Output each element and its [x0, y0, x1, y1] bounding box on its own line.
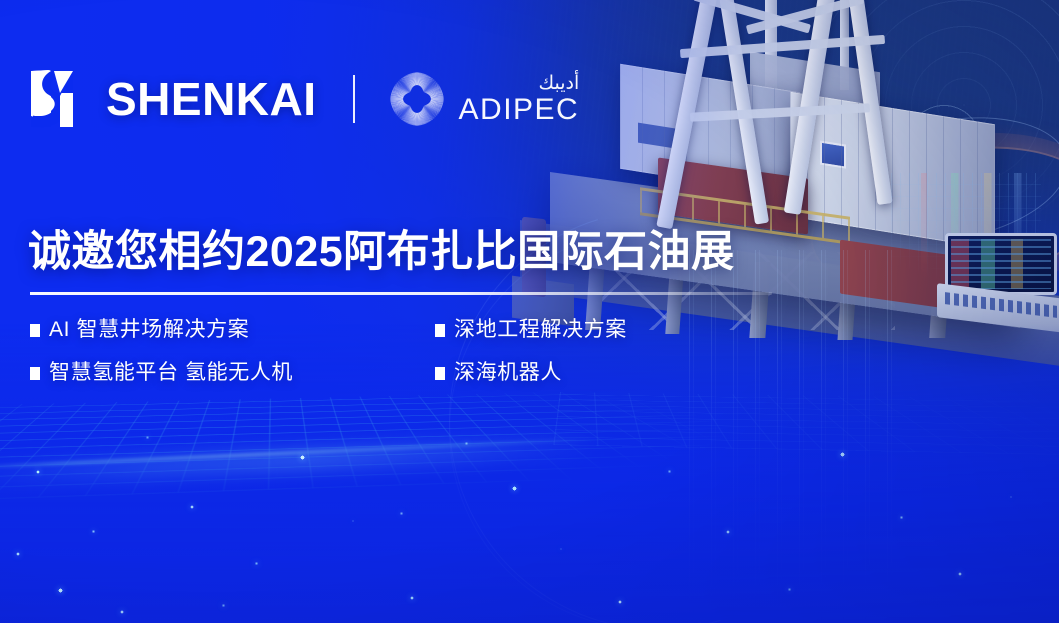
shenkai-wordmark: SHENKAI: [106, 76, 317, 122]
feature-column-right: 深海机器人: [435, 356, 562, 390]
list-item: AI 智慧井场解决方案: [30, 313, 435, 347]
logo-row: SHENKAI أديبك ADIPEC: [27, 68, 579, 130]
square-bullet-icon: [435, 324, 445, 337]
feature-label: 深地工程解决方案: [454, 313, 627, 347]
square-bullet-icon: [30, 324, 40, 337]
vertical-divider-icon: [353, 75, 355, 123]
adipec-wordmark: أديبك ADIPEC: [459, 74, 580, 125]
page-title: 诚邀您相约2025阿布扎比国际石油展: [28, 228, 735, 277]
feature-column-left: AI 智慧井场解决方案: [30, 313, 435, 347]
horizontal-rule-icon: [30, 292, 772, 295]
feature-label: 深海机器人: [454, 356, 562, 390]
feature-label: 智慧氢能平台 氢能无人机: [49, 356, 293, 390]
adipec-arabic-text: أديبك: [538, 74, 579, 93]
feature-column-left: 智慧氢能平台 氢能无人机: [30, 356, 435, 390]
adipec-2025-promo-banner: SHENKAI أديبك ADIPEC: [0, 0, 1059, 623]
adipec-logo: أديبك ADIPEC: [388, 70, 580, 128]
square-bullet-icon: [30, 367, 40, 380]
list-item: 深地工程解决方案: [435, 313, 627, 347]
list-item: 智慧氢能平台 氢能无人机: [30, 356, 435, 390]
adipec-radial-burst-icon: [388, 70, 446, 128]
feature-row: 智慧氢能平台 氢能无人机 深海机器人: [30, 356, 750, 390]
list-item: 深海机器人: [435, 356, 562, 390]
shenkai-sk-mark-icon: [27, 68, 89, 130]
feature-row: AI 智慧井场解决方案 深地工程解决方案: [30, 313, 750, 347]
banner-content: SHENKAI أديبك ADIPEC: [0, 0, 1059, 623]
feature-label: AI 智慧井场解决方案: [49, 313, 249, 347]
feature-column-right: 深地工程解决方案: [435, 313, 627, 347]
adipec-english-text: ADIPEC: [459, 95, 580, 125]
square-bullet-icon: [435, 367, 445, 380]
feature-list: AI 智慧井场解决方案 深地工程解决方案 智慧氢能平台 氢能无人机: [30, 313, 750, 399]
